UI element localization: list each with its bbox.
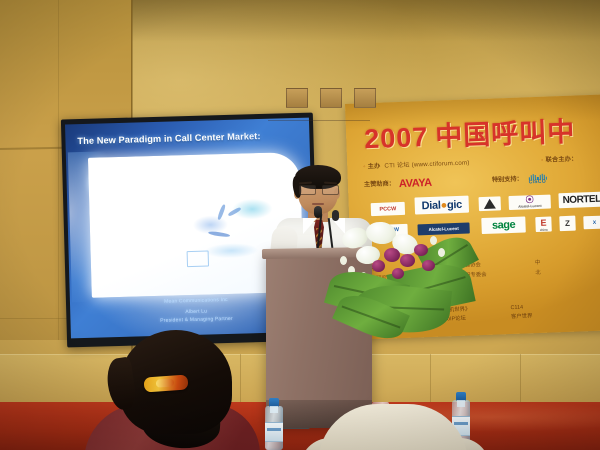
flower-bud <box>430 236 437 245</box>
special-support-group: 特别支持： CISCO <box>492 173 549 187</box>
cisco-logo: CISCO <box>528 173 548 186</box>
base-seam <box>430 354 431 404</box>
supporter-col3: 北 <box>535 268 541 278</box>
microphone-head-icon <box>314 206 322 218</box>
podium-decor-panel <box>354 88 376 108</box>
logo-nortel: NORTEL <box>558 192 600 209</box>
purple-orchid <box>422 260 435 271</box>
hair-clip-accessory <box>144 374 189 392</box>
conference-photo-scene: 2007中国呼叫中 ◦主办CTI 论坛 (www.ctiforum.com) ◦… <box>0 0 600 450</box>
logo-alcatel <box>479 196 501 211</box>
media-col3: C114 <box>510 304 523 310</box>
organizer-value: CTI 论坛 (www.ctiforum.com) <box>384 159 469 169</box>
banner-title-chinese: 中国呼叫中 <box>435 117 576 152</box>
logo-e: Echina <box>535 217 552 233</box>
logo-alcatel-lucent: ⦿Alcatel-Lucent <box>508 195 550 211</box>
cisco-wordmark: CISCO <box>529 179 549 186</box>
flower-bud <box>438 248 445 257</box>
logo-x: X <box>583 216 600 230</box>
slide-title-suffix: Market: <box>227 131 261 142</box>
banner-sponsor-row: 主赞助商：AVAYA 特别支持： CISCO <box>364 170 600 191</box>
podium-decor-panel <box>286 88 308 108</box>
floral-arrangement <box>326 222 472 340</box>
logo-z: Z <box>559 216 576 232</box>
audience-woman-foreground <box>96 330 276 450</box>
slide-subtitle-line1: Mean Communications Inc <box>164 297 228 305</box>
bullet-icon: ◦ <box>541 157 544 164</box>
purple-orchid <box>400 254 415 267</box>
base-seam <box>520 354 521 404</box>
lens-right <box>322 185 339 195</box>
banner-title: 2007中国呼叫中 <box>364 110 576 157</box>
lens-left <box>299 185 316 195</box>
logo-sage: sage <box>481 216 526 234</box>
wall-seam-vertical <box>58 0 59 340</box>
slide-box-shape <box>187 250 209 267</box>
flower-bud <box>340 256 347 265</box>
microphone-head-icon <box>332 210 339 221</box>
eyeglasses-icon <box>298 185 338 194</box>
purple-orchid <box>372 260 385 272</box>
podium-trim-line <box>268 120 370 121</box>
purple-orchid <box>414 244 428 256</box>
wall-seam-horizontal <box>0 318 70 319</box>
supporter-col3: 中 <box>535 259 541 269</box>
logo-pccw: PCCW <box>371 202 405 216</box>
glasses-bridge <box>314 188 322 189</box>
avaya-logo: AVAYA <box>399 177 432 190</box>
logo-dialogic: Dial●gic <box>414 196 469 215</box>
purple-orchid <box>392 268 404 279</box>
speaker-mouth <box>312 203 324 205</box>
co-organizer-group: ◦联合主办： <box>541 154 578 164</box>
media-col3: 客户世界 <box>511 313 533 320</box>
special-support-label: 特别支持： <box>492 176 523 184</box>
co-organizer-label: 联合主办： <box>545 156 577 164</box>
purple-orchid <box>384 248 400 262</box>
bottle-neck <box>457 400 465 407</box>
banner-year: 2007 <box>364 122 429 154</box>
podium-decor-panel <box>320 88 342 108</box>
